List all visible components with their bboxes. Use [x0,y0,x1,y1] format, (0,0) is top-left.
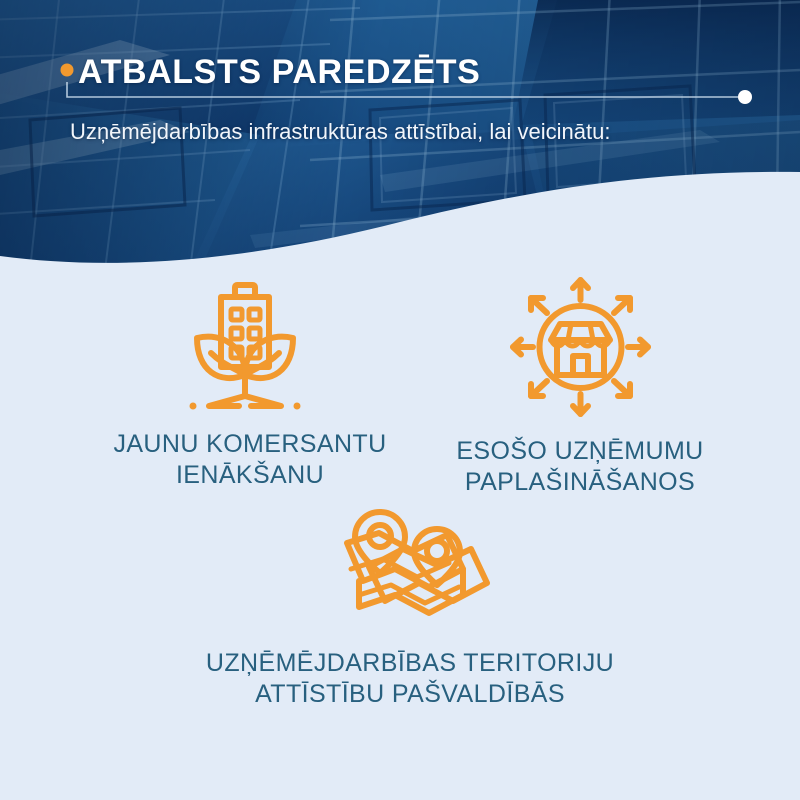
infographic-page: ATBALSTS PAREDZĒTS Uzņēmējdarbības infra… [0,0,800,800]
benefit-card-territory: UZŅĒMĒJDARBĪBAS TERITORIJU ATTĪSTĪBU PAŠ… [205,505,615,710]
benefit-caption: JAUNU KOMERSANTU IENĀKŠANU [50,429,450,491]
storefront-expansion-arrows-icon [503,272,658,422]
benefit-caption: UZŅĒMĒJDARBĪBAS TERITORIJU ATTĪSTĪBU PAŠ… [205,648,615,710]
benefit-caption: ESOŠO UZŅĒMUMU PAPLAŠINĀŠANOS [400,436,760,498]
page-title: ATBALSTS PAREDZĒTS [78,53,480,92]
benefit-card-expansion: ESOŠO UZŅĒMUMU PAPLAŠINĀŠANOS [400,272,760,498]
accent-dot-icon [61,64,74,77]
benefit-card-new-businesses: JAUNU KOMERSANTU IENĀKŠANU [50,275,450,491]
page-subtitle: Uzņēmējdarbības infrastruktūras attīstīb… [70,118,690,145]
map-pins-territory-icon [325,505,495,630]
building-sprout-icon [175,275,325,415]
line-end-dot-icon [738,90,752,104]
